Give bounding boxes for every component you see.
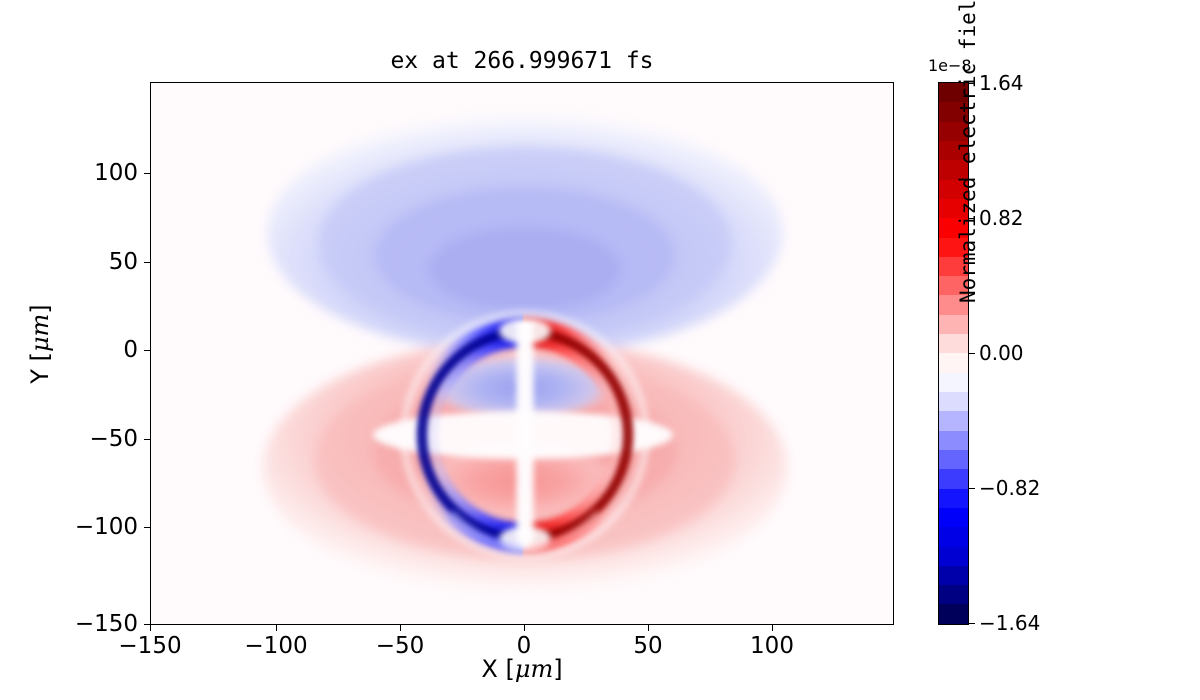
colorbar-band	[939, 547, 968, 566]
xlabel-prefix: X [	[481, 655, 514, 683]
x-axis-label: X [μm]	[150, 655, 894, 683]
colorbar-tick-label: −1.64	[979, 611, 1040, 635]
contour-plot-axes	[150, 82, 894, 625]
colorbar-band	[939, 527, 968, 546]
colorbar-band	[939, 469, 968, 488]
ytick-label: −150	[40, 611, 138, 637]
xlabel-suffix: ]	[553, 655, 562, 683]
xlabel-mu: μm	[515, 655, 553, 683]
colorbar-label: Normalized electric field	[956, 0, 980, 365]
colorbar-band	[939, 431, 968, 450]
colorbar-tick-mark	[969, 488, 975, 489]
xtick-mark	[276, 625, 277, 631]
xtick-mark	[400, 625, 401, 631]
colorbar-tick-label: 0.00	[979, 341, 1024, 365]
ytick-label: 50	[40, 249, 138, 275]
ytick-label: 0	[40, 337, 138, 363]
y-axis-label: Y [μm]	[26, 234, 54, 454]
ytick-label: 100	[40, 160, 138, 186]
colorbar-band	[939, 450, 968, 469]
ytick-mark	[144, 350, 150, 351]
colorbar-tick-mark	[969, 623, 975, 624]
colorbar-tick-label: 0.82	[979, 206, 1024, 230]
colorbar-band	[939, 604, 968, 623]
colorbar-band	[939, 392, 968, 411]
colorbar-band	[939, 373, 968, 392]
colorbar-tick-label: 1.64	[979, 71, 1024, 95]
contour-field	[151, 83, 894, 625]
ylabel-suffix: ]	[26, 304, 54, 313]
ytick-mark	[144, 624, 150, 625]
colorbar-tick-label: −0.82	[979, 476, 1040, 500]
page-title: ex at 266.999671 fs	[150, 48, 894, 74]
matplotlib-figure: ex at 266.999671 fs	[0, 0, 1200, 700]
colorbar-band	[939, 508, 968, 527]
ylabel-prefix: Y [	[26, 352, 54, 384]
ytick-mark	[144, 262, 150, 263]
colorbar-band	[939, 585, 968, 604]
ytick-label: −50	[40, 426, 138, 452]
colorbar-band	[939, 411, 968, 430]
colorbar-band	[939, 489, 968, 508]
ytick-label: −100	[40, 514, 138, 540]
ytick-mark	[144, 439, 150, 440]
xtick-mark	[648, 625, 649, 631]
ytick-mark	[144, 173, 150, 174]
xtick-mark	[524, 625, 525, 631]
ytick-mark	[144, 527, 150, 528]
xtick-mark	[772, 625, 773, 631]
colorbar-band	[939, 566, 968, 585]
xtick-mark	[150, 625, 151, 631]
ylabel-mu: μm	[26, 314, 54, 352]
